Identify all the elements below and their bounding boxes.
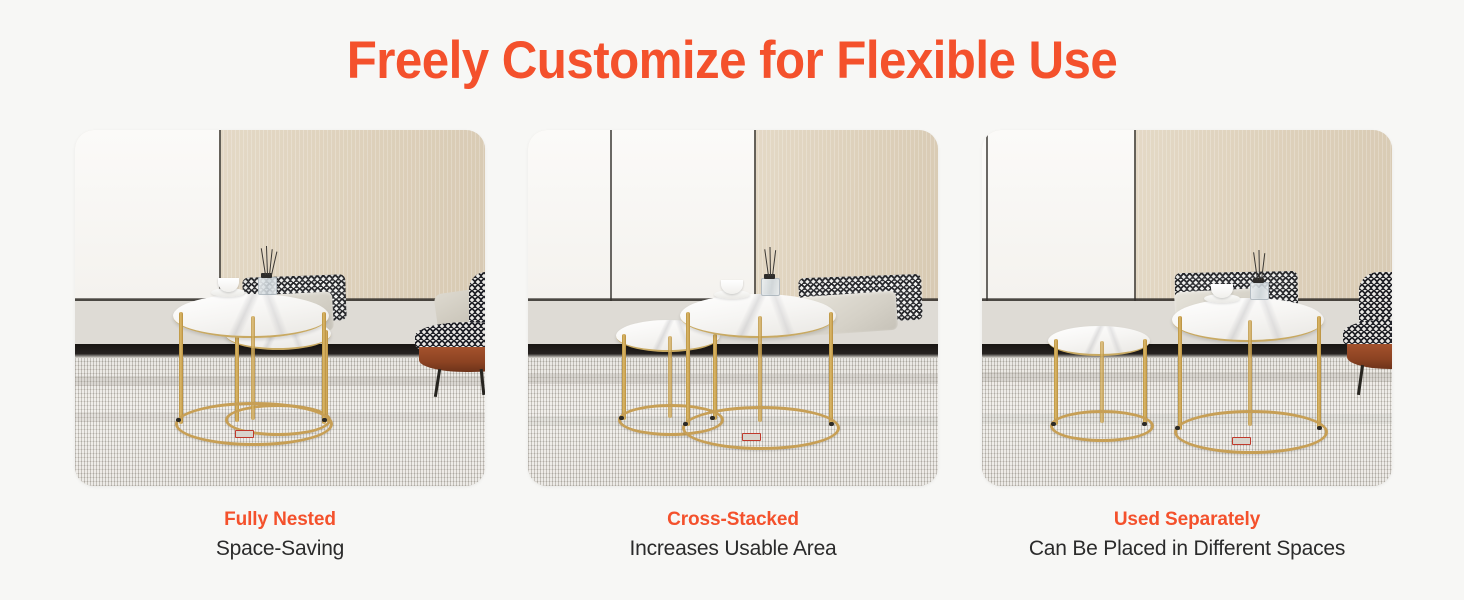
table-large-base-ring — [1174, 410, 1328, 454]
page-title: Freely Customize for Flexible Use — [51, 32, 1413, 90]
wall-panel-white — [75, 130, 219, 301]
table-large-base-ring — [682, 406, 840, 450]
scene-fully-nested — [75, 130, 485, 486]
scene-used-separately — [982, 130, 1392, 486]
rug-band — [75, 376, 485, 386]
armchair-backrest — [469, 272, 485, 329]
panel-fully-nested: Fully Nested Space-Saving — [75, 130, 485, 486]
table-foot — [1142, 422, 1147, 426]
wall — [75, 130, 485, 301]
wall-divider-vertical — [219, 130, 221, 301]
table-small-leg — [622, 334, 626, 420]
infographic-root: Freely Customize for Flexible Use — [0, 0, 1464, 600]
table-large-base-ring — [175, 402, 333, 446]
rug-band — [982, 372, 1392, 382]
table-small-leg — [1143, 339, 1147, 425]
caption-cross-stacked: Cross-Stacked Increases Usable Area — [528, 508, 938, 562]
table-large-leg — [686, 312, 690, 426]
caption-fully-nested: Fully Nested Space-Saving — [75, 508, 485, 562]
table-foot — [1317, 426, 1322, 430]
diffuser-jar — [258, 277, 277, 295]
wall-divider-vertical — [986, 130, 988, 301]
table-foot — [176, 418, 181, 422]
photo-fully-nested — [75, 130, 485, 486]
caption-title: Cross-Stacked — [528, 508, 938, 532]
wall-panel-wood — [219, 130, 486, 301]
sofa-floor-shadow — [982, 344, 1392, 358]
table-foot — [322, 418, 327, 422]
diffuser-jar — [1250, 282, 1269, 300]
sofa-floor-shadow — [528, 344, 938, 358]
diffuser-jar — [761, 278, 780, 296]
brand-label — [742, 433, 761, 441]
table-foot — [619, 416, 624, 420]
table-small-leg — [1054, 339, 1058, 425]
table-small-leg — [713, 334, 717, 420]
panel-cross-stacked: Cross-Stacked Increases Usable Area — [528, 130, 938, 486]
caption-subtitle: Increases Usable Area — [528, 535, 938, 562]
photo-used-separately — [982, 130, 1392, 486]
caption-subtitle: Space-Saving — [75, 535, 485, 562]
caption-used-separately: Used Separately Can Be Placed in Differe… — [982, 508, 1392, 562]
table-foot — [829, 422, 834, 426]
wall-panel-white — [982, 130, 1134, 301]
caption-subtitle: Can Be Placed in Different Spaces — [982, 535, 1392, 562]
caption-title: Used Separately — [982, 508, 1392, 532]
table-large-leg — [1317, 316, 1321, 430]
caption-title: Fully Nested — [75, 508, 485, 532]
table-foot — [1051, 422, 1056, 426]
table-large-leg — [322, 312, 326, 424]
table-large-leg — [829, 312, 833, 426]
table-foot — [1175, 426, 1180, 430]
table-foot — [683, 422, 688, 426]
brand-label — [235, 430, 254, 438]
panel-used-separately: Used Separately Can Be Placed in Differe… — [982, 130, 1392, 486]
table-small-top — [1048, 326, 1150, 356]
panel-row: Fully Nested Space-Saving — [0, 130, 1464, 560]
table-small-base-ring — [1050, 410, 1154, 442]
brand-label — [1232, 437, 1251, 445]
wall-panel-white — [528, 130, 754, 301]
table-large-leg — [1178, 316, 1182, 430]
scene-cross-stacked — [528, 130, 938, 486]
wall-divider-vertical — [754, 130, 756, 301]
wall-divider-vertical — [1134, 130, 1136, 301]
wall-divider-vertical — [610, 130, 612, 301]
rug-band — [528, 374, 938, 384]
photo-cross-stacked — [528, 130, 938, 486]
table-large-leg — [179, 312, 183, 424]
